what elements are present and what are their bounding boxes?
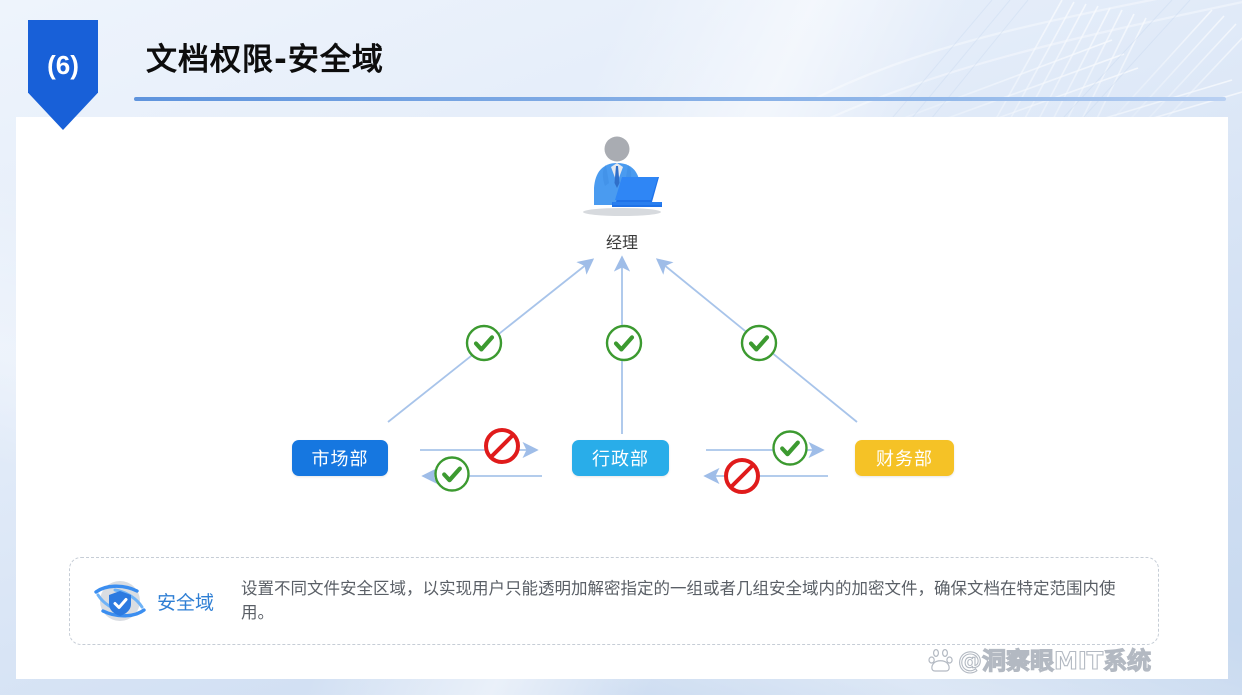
watermark-text: @洞察眼MIT系统 <box>958 641 1151 676</box>
note-title: 安全域 <box>157 588 214 615</box>
department-label: 财务部 <box>876 445 933 471</box>
manager-laptop-icon <box>576 136 668 218</box>
shield-globe-icon <box>89 577 151 625</box>
department-box-admin[interactable]: 行政部 <box>572 440 669 476</box>
department-label: 行政部 <box>592 445 649 471</box>
background-accent-lines <box>842 0 1242 130</box>
baidu-paw-icon <box>928 646 954 672</box>
department-box-finance[interactable]: 财务部 <box>855 440 954 476</box>
note-box: 安全域 设置不同文件安全区域，以实现用户只能透明加解密指定的一组或者几组安全域内… <box>69 557 1159 645</box>
manager-label: 经理 <box>536 229 708 253</box>
department-box-market[interactable]: 市场部 <box>292 440 388 476</box>
title-divider <box>134 97 1226 101</box>
note-description: 设置不同文件安全区域，以实现用户只能透明加解密指定的一组或者几组安全域内的加密文… <box>241 577 1121 625</box>
department-label: 市场部 <box>312 445 369 471</box>
watermark: @洞察眼MIT系统 <box>928 641 1151 676</box>
slide-root: (6) 文档权限-安全域 经理 <box>0 0 1242 695</box>
page-title: 文档权限-安全域 <box>146 34 384 79</box>
slide-number-label: (6) <box>28 50 98 81</box>
